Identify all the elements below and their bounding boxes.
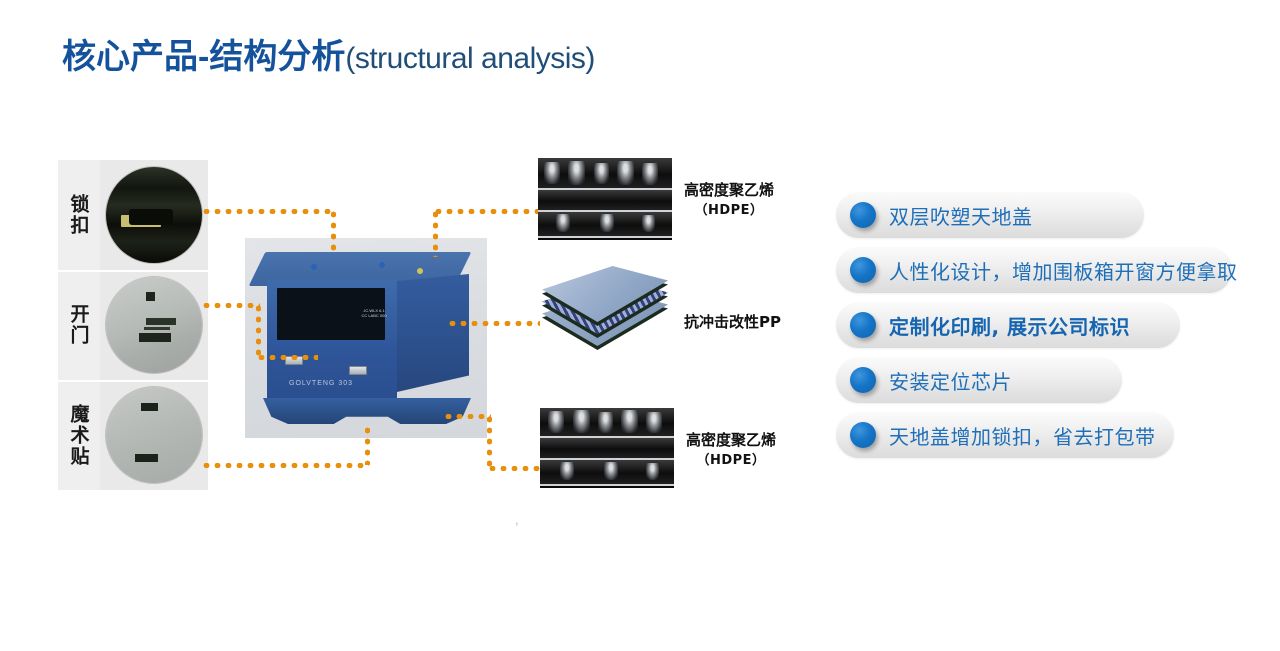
detail-thumb-box-velcro [100, 380, 208, 490]
row-divider [58, 270, 208, 272]
feature-item-3[interactable]: 定制化印刷, 展示公司标识 [836, 302, 1180, 348]
page-title: 核心产品-结构分析(structural analysis) [62, 40, 595, 74]
connector-line-lock [201, 209, 334, 214]
detail-item-velcro[interactable]: 魔术贴 [58, 380, 208, 490]
page-title-english: (structural analysis) [345, 42, 595, 75]
hdpe-cross-section-photo-bottom [540, 408, 674, 488]
feature-label-3: 定制化印刷, 展示公司标识 [889, 311, 1130, 340]
bullet-circle-icon [850, 202, 876, 228]
velcro-photo [106, 387, 202, 483]
open-door-photo [106, 277, 202, 373]
connector-line-door [256, 303, 261, 359]
material-label-pp: 抗冲击改性PP [684, 312, 781, 334]
impact-modified-pp-photo [538, 272, 678, 364]
material-callout-hdpe-bottom: 高密度聚乙烯 （HDPE） [540, 408, 800, 496]
feature-label-4: 安装定位芯片 [889, 366, 1012, 395]
material-callout-hdpe-top: 高密度聚乙烯 （HDPE） [538, 158, 798, 246]
feature-item-1[interactable]: 双层吹塑天地盖 [836, 192, 1144, 238]
detail-item-lock[interactable]: 锁扣 [58, 160, 208, 270]
connector-line-door [201, 303, 260, 308]
detail-thumb-box-door [100, 270, 208, 380]
detail-thumb-box-lock [100, 160, 208, 270]
stray-punctuation-mark: , [515, 512, 519, 527]
connector-line-door [256, 355, 318, 360]
connector-line-hdpe-top [433, 209, 438, 257]
material-label-hdpe-top: 高密度聚乙烯 （HDPE） [684, 180, 774, 221]
connector-line-hdpe-bottom [443, 414, 491, 419]
feature-item-5[interactable]: 天地盖增加锁扣，省去打包带 [836, 412, 1174, 458]
hdpe-cross-section-photo-top [538, 158, 672, 240]
connector-line-lock [331, 209, 336, 251]
product-photo: JC.WLX 6.1 CC LABC 000 GOLVTENG 303 [245, 238, 487, 438]
bullet-circle-icon [850, 257, 876, 283]
row-divider [58, 380, 208, 382]
slide-canvas: 核心产品-结构分析(structural analysis) 锁扣 开门 魔术贴 [0, 0, 1280, 651]
connector-line-pp [447, 321, 540, 326]
bullet-circle-icon [850, 367, 876, 393]
lid-knob [379, 262, 385, 268]
feature-item-4[interactable]: 安装定位芯片 [836, 357, 1122, 403]
connector-line-hdpe-bottom [487, 414, 492, 470]
material-callout-pp: 抗冲击改性PP [538, 272, 798, 368]
feature-label-1: 双层吹塑天地盖 [889, 201, 1033, 230]
bullet-circle-icon [850, 312, 876, 338]
page-title-chinese: 核心产品-结构分析 [62, 38, 345, 76]
container-side-panel [397, 274, 469, 392]
lid-knob [311, 264, 317, 270]
container-latch [349, 366, 367, 375]
connector-line-hdpe-bottom [487, 466, 545, 471]
connector-line-hdpe-top [433, 209, 538, 214]
detail-label-velcro: 魔术贴 [58, 380, 100, 490]
detail-label-lock: 锁扣 [58, 160, 100, 270]
bullet-circle-icon [850, 422, 876, 448]
container-pallet-base [263, 398, 471, 424]
feature-list: 双层吹塑天地盖 人性化设计，增加围板箱开窗方便拿取 定制化印刷, 展示公司标识 … [836, 192, 1232, 467]
feature-label-2: 人性化设计，增加围板箱开窗方便拿取 [889, 256, 1238, 285]
detail-item-door[interactable]: 开门 [58, 270, 208, 380]
left-detail-column: 锁扣 开门 魔术贴 [58, 160, 208, 490]
feature-label-5: 天地盖增加锁扣，省去打包带 [889, 421, 1156, 450]
connector-line-velcro [201, 463, 369, 468]
connector-line-velcro [365, 425, 370, 465]
container-label-plate: JC.WLX 6.1 CC LABC 000 [361, 308, 387, 322]
feature-item-2[interactable]: 人性化设计，增加围板箱开窗方便拿取 [836, 247, 1232, 293]
detail-label-door: 开门 [58, 270, 100, 380]
material-label-hdpe-bottom: 高密度聚乙烯 （HDPE） [686, 430, 776, 471]
lock-buckle-photo [106, 167, 202, 263]
container-brand-text: GOLVTENG 303 [289, 380, 353, 387]
lid-lock-knob [417, 268, 423, 274]
